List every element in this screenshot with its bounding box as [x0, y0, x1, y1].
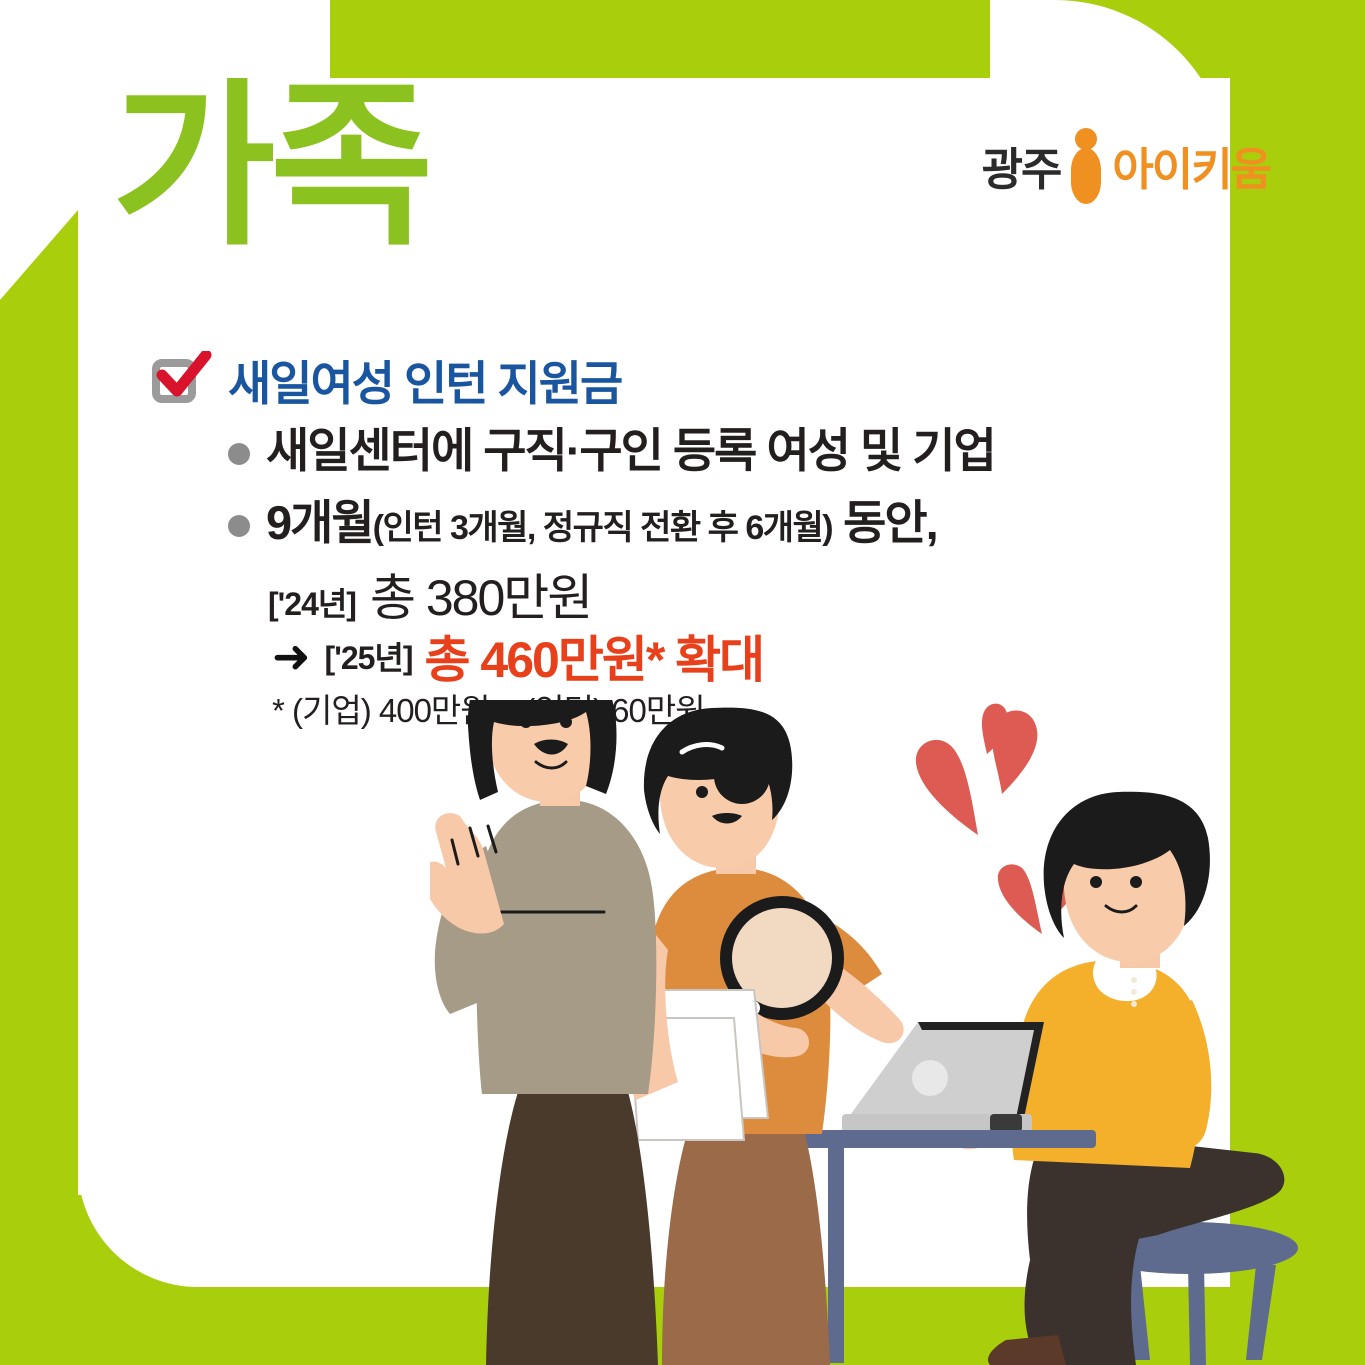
year-2025-tag: ['25년]: [325, 633, 413, 679]
bullet-item-1: 새일센터에 구직·구인 등록 여성 및 기업: [228, 424, 995, 478]
checkbox-checked-icon: [150, 351, 212, 409]
bullet-dot-icon: [228, 443, 250, 465]
bullet-text-2: 9개월(인턴 3개월, 정규직 전환 후 6개월) 동안,: [266, 496, 937, 550]
woman-with-magnifier: [615, 708, 903, 1365]
bullet-dot-icon: [228, 515, 250, 537]
bullet-2-detail: (인턴 3개월, 정규직 전환 후 6개월): [373, 509, 833, 547]
illustration-three-women: .skin{fill:#F7C9A9;} .skin2{fill:#F8CBAA…: [430, 700, 1330, 1365]
year-2024-tag: ['24년]: [268, 579, 356, 625]
bullet-item-2: 9개월(인턴 3개월, 정규직 전환 후 6개월) 동안,: [228, 496, 937, 550]
section-title: 새일여성 인턴 지원금: [228, 345, 621, 414]
year-2025-row: ➜ ['25년] 총 460만원* 확대: [272, 620, 763, 692]
right-arrow-icon: ➜: [272, 633, 311, 679]
bullet-text-1: 새일센터에 구직·구인 등록 여성 및 기업: [266, 424, 995, 478]
bullet-2-main-2: 동안,: [832, 496, 937, 549]
section-heading-row: 새일여성 인턴 지원금: [150, 345, 621, 414]
bullet-2-main-1: 9개월: [266, 496, 373, 549]
waving-woman: [430, 700, 658, 1365]
infographic-card: 가족 광주 아이키움 새일여성 인턴 지원금 새일센터에 구직·: [0, 0, 1365, 1365]
year-2025-amount: 총 460만원* 확대: [425, 620, 764, 692]
